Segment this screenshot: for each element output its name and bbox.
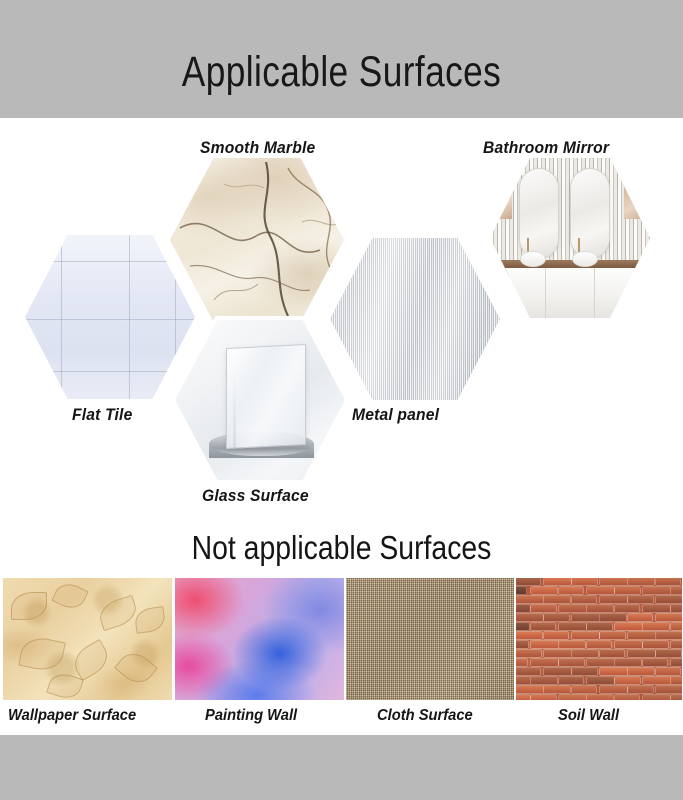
- marble-veins: [170, 158, 344, 322]
- brick: [516, 587, 526, 594]
- oval-mirror-right: [570, 168, 610, 260]
- soil-wall-texture: [516, 578, 682, 700]
- brick: [516, 695, 530, 700]
- brick-row: [516, 641, 682, 650]
- brick-row: [516, 677, 682, 686]
- brick-row: [516, 605, 682, 614]
- label-glass-surface: Glass Surface: [202, 486, 309, 506]
- brick: [572, 596, 596, 603]
- brick: [516, 623, 529, 630]
- brick: [559, 659, 584, 666]
- brick-row: [516, 596, 682, 605]
- tile-soil-wall: [516, 578, 682, 700]
- brick: [572, 668, 597, 675]
- not-applicable-tiles-row: [0, 578, 683, 700]
- brick: [656, 596, 682, 603]
- footer-band: [0, 735, 683, 800]
- brick: [516, 650, 541, 657]
- brick: [587, 659, 615, 666]
- brick-row: [516, 623, 682, 632]
- brick: [516, 641, 528, 648]
- brick: [671, 659, 682, 666]
- brick: [587, 695, 613, 700]
- white-vanity: [496, 268, 643, 318]
- brick: [671, 677, 682, 684]
- brick: [643, 641, 668, 648]
- brick-row: [516, 587, 682, 596]
- label-cloth-surface: Cloth Surface: [377, 706, 473, 726]
- brick: [643, 623, 669, 630]
- label-smooth-marble: Smooth Marble: [200, 138, 315, 158]
- label-painting-wall: Painting Wall: [205, 706, 297, 726]
- brick: [643, 677, 671, 684]
- brick: [587, 587, 614, 594]
- brick: [615, 659, 641, 666]
- brick: [600, 632, 625, 639]
- brick: [531, 605, 556, 612]
- hexagon-glass-surface: [175, 320, 345, 480]
- wallpaper-surface-texture: [3, 578, 172, 700]
- brick: [516, 614, 543, 621]
- brick: [600, 668, 628, 675]
- brick: [600, 686, 627, 693]
- brick: [559, 587, 583, 594]
- painting-wall-texture: [175, 578, 344, 700]
- label-bathroom-mirror: Bathroom Mirror: [483, 138, 609, 158]
- brick: [656, 578, 680, 585]
- brick: [671, 605, 682, 612]
- brick-row: [516, 614, 682, 623]
- brick: [587, 641, 611, 648]
- brick-row: [516, 668, 682, 677]
- brick: [572, 650, 598, 657]
- brick: [643, 659, 667, 666]
- hexagon-smooth-marble: [170, 158, 344, 322]
- page-title: Applicable Surfaces: [61, 48, 621, 96]
- flat-tile-texture: [25, 235, 195, 399]
- brick: [516, 686, 544, 693]
- brick: [516, 578, 540, 585]
- brick: [628, 686, 653, 693]
- brick: [600, 614, 626, 621]
- label-metal-panel: Metal panel: [352, 405, 439, 425]
- brick: [516, 596, 544, 603]
- brick: [559, 605, 587, 612]
- brick: [531, 695, 556, 700]
- brick: [643, 605, 670, 612]
- brick: [600, 596, 627, 603]
- brick: [559, 623, 586, 630]
- brick: [643, 695, 670, 700]
- brick: [544, 578, 571, 585]
- sink-right: [572, 251, 598, 267]
- brick: [671, 587, 682, 594]
- brick: [544, 686, 570, 693]
- brick: [628, 578, 654, 585]
- brick: [628, 650, 655, 657]
- brick: [531, 623, 555, 630]
- label-flat-tile: Flat Tile: [72, 405, 132, 425]
- brick-row: [516, 686, 682, 695]
- brick: [531, 659, 558, 666]
- brick: [516, 605, 530, 612]
- cloth-surface-texture: [346, 578, 514, 700]
- brick: [671, 623, 682, 630]
- brick: [643, 587, 671, 594]
- brick: [572, 614, 600, 621]
- brick: [628, 668, 654, 675]
- not-applicable-title: Not applicable Surfaces: [48, 528, 635, 568]
- infographic-page: Applicable Surfaces Smooth Marble: [0, 0, 683, 800]
- wood-counter: [490, 260, 650, 268]
- brick-row: [516, 659, 682, 668]
- brick: [516, 668, 540, 675]
- brick: [615, 587, 640, 594]
- brick: [628, 632, 656, 639]
- glass-surface-texture: [175, 320, 345, 480]
- tile-cloth-surface: [346, 578, 514, 700]
- brick-row: [516, 632, 682, 641]
- brick: [516, 632, 542, 639]
- brick: [516, 677, 531, 684]
- brick-row: [516, 650, 682, 659]
- label-soil-wall: Soil Wall: [558, 706, 619, 726]
- brick: [544, 614, 569, 621]
- brick: [531, 587, 557, 594]
- brick: [600, 650, 624, 657]
- brick: [559, 677, 583, 684]
- faucet-left: [527, 238, 529, 252]
- glass-panel: [226, 343, 306, 448]
- brick: [587, 677, 614, 684]
- brick: [559, 641, 585, 648]
- brick: [615, 605, 639, 612]
- brick: [656, 668, 680, 675]
- brick: [615, 641, 642, 648]
- tile-wallpaper-surface: [3, 578, 172, 700]
- brick: [615, 623, 643, 630]
- brick: [656, 614, 682, 621]
- brick: [544, 632, 568, 639]
- brick: [544, 596, 570, 603]
- applicable-surfaces-section: Smooth Marble: [0, 118, 683, 518]
- brick: [628, 614, 652, 621]
- brick: [531, 677, 557, 684]
- label-wallpaper-surface: Wallpaper Surface: [8, 706, 136, 726]
- brick: [572, 686, 596, 693]
- metal-panel-texture: [330, 238, 500, 400]
- brick-row: [516, 578, 682, 587]
- brick: [656, 686, 682, 693]
- brick: [531, 641, 559, 648]
- brick: [615, 695, 639, 700]
- brick-row: [516, 695, 682, 700]
- hexagon-metal-panel: [330, 238, 500, 400]
- brick: [671, 695, 682, 700]
- brick: [615, 677, 640, 684]
- oval-mirror-left: [519, 168, 559, 260]
- brick: [559, 695, 587, 700]
- faucet-right: [578, 238, 580, 252]
- brick: [656, 650, 681, 657]
- brick: [587, 623, 612, 630]
- tile-painting-wall: [175, 578, 344, 700]
- brick: [600, 578, 628, 585]
- brick: [544, 650, 572, 657]
- brick: [671, 641, 682, 648]
- brick: [656, 632, 682, 639]
- brick: [544, 668, 571, 675]
- brick: [628, 596, 653, 603]
- brick: [587, 605, 613, 612]
- hexagon-flat-tile: [25, 235, 195, 399]
- brick: [572, 632, 599, 639]
- brick: [516, 659, 527, 666]
- brick: [572, 578, 597, 585]
